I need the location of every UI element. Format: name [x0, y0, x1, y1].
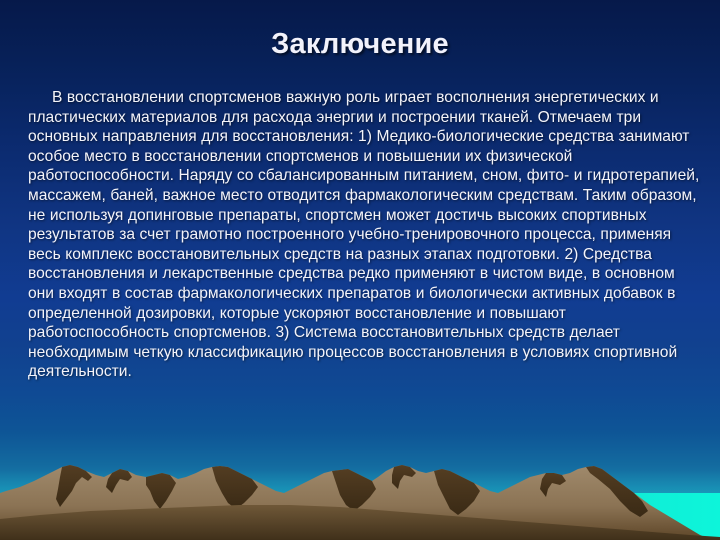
slide-body-text: В восстановлении спортсменов важную роль…: [28, 88, 704, 382]
presentation-slide: Заключение В восстановлении спортсменов …: [0, 0, 720, 540]
slide-title: Заключение: [0, 28, 720, 61]
mountain-range-graphic: [0, 415, 720, 540]
